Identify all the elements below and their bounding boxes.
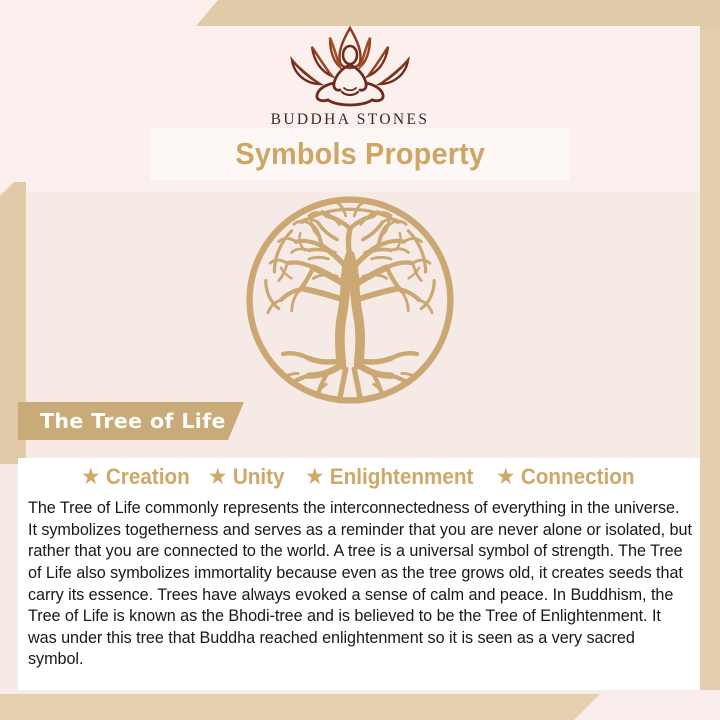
- star-icon: ★: [497, 467, 514, 487]
- keyword-list: ★ Creation ★ Unity ★ Enlightenment ★ Con…: [18, 458, 700, 490]
- brand-name: BUDDHA STONES: [0, 111, 700, 129]
- right-decorative-strip: [700, 0, 720, 720]
- top-right-corner-accent: [700, 0, 720, 30]
- keyword-label: Unity: [233, 464, 285, 490]
- keyword-item: ★ Creation: [83, 464, 190, 490]
- title-banner: Symbols Property: [150, 128, 570, 180]
- keyword-label: Connection: [521, 464, 635, 490]
- tree-of-life-emblem: [0, 192, 700, 408]
- infographic-page: BUDDHA STONES Symbols Property: [0, 0, 720, 720]
- keyword-item: ★ Connection: [497, 464, 634, 490]
- bottom-decorative-band: [0, 694, 600, 720]
- content-panel: ★ Creation ★ Unity ★ Enlightenment ★ Con…: [18, 458, 700, 698]
- brand-logo: BUDDHA STONES: [0, 22, 700, 129]
- lotus-meditation-icon: [0, 22, 700, 108]
- keyword-label: Creation: [106, 464, 190, 490]
- section-label-banner: The Tree of Life: [18, 402, 244, 440]
- keyword-item: ★ Unity: [210, 464, 285, 490]
- page-title: Symbols Property: [235, 136, 485, 172]
- keyword-item: ★ Enlightenment: [307, 464, 474, 490]
- star-icon: ★: [307, 467, 324, 487]
- description-paragraph: The Tree of Life commonly represents the…: [28, 498, 692, 671]
- star-icon: ★: [210, 467, 227, 487]
- keyword-label: Enlightenment: [330, 464, 474, 490]
- section-label: The Tree of Life: [40, 409, 226, 433]
- star-icon: ★: [83, 467, 100, 487]
- tree-of-life-icon: [242, 192, 458, 408]
